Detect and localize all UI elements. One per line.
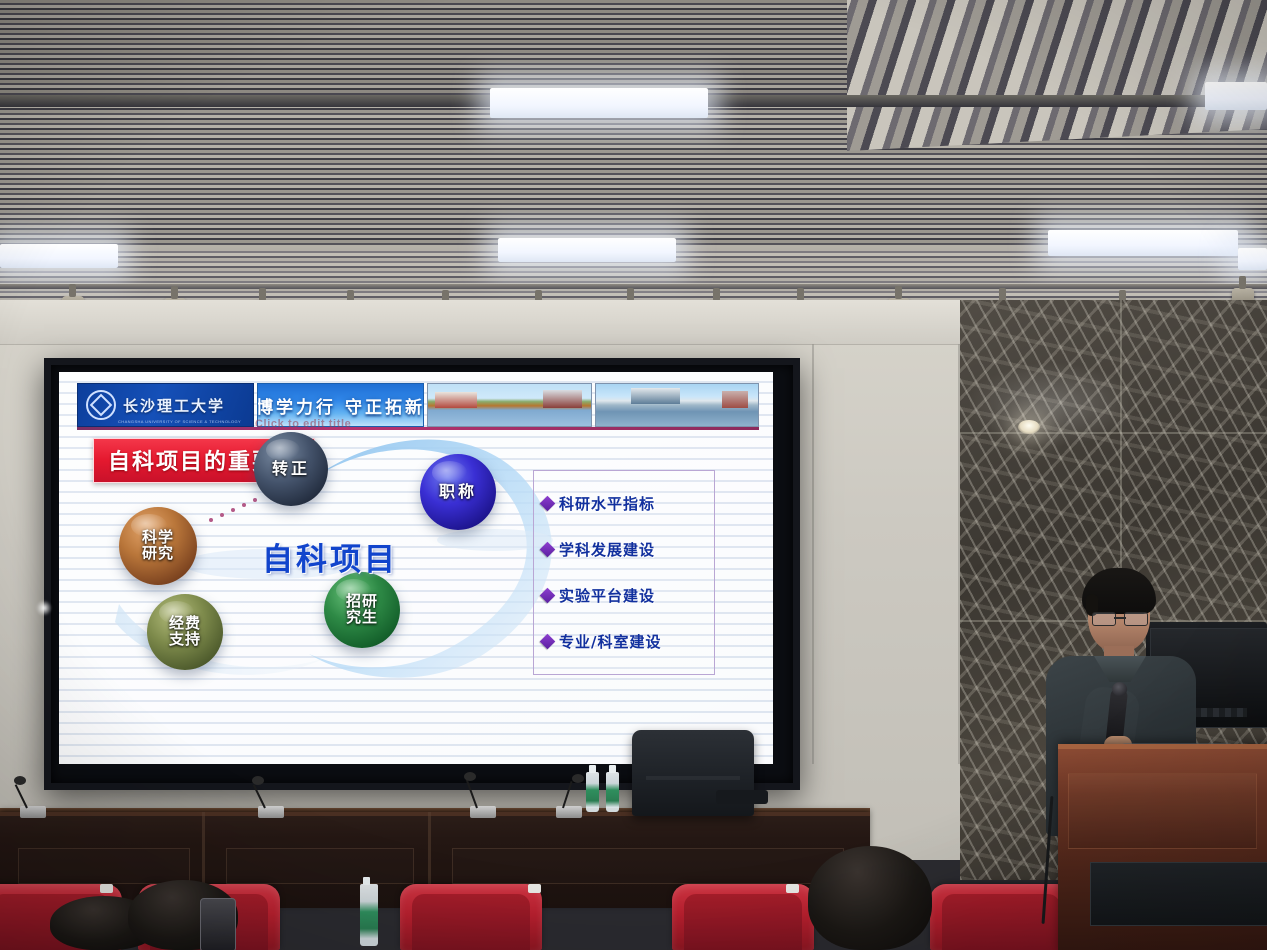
table-microphone-base	[470, 806, 496, 818]
university-name-cn: 长沙理工大学	[123, 395, 225, 416]
bullet-label: 科研水平指标	[559, 493, 655, 514]
head-table-panel	[452, 848, 844, 884]
conference-room-photo: 长沙理工大学 CHANGSHA UNIVERSITY OF SCIENCE & …	[0, 0, 1267, 950]
lectern-front-panel	[1068, 773, 1257, 849]
ceiling-panel-light	[1238, 248, 1267, 270]
ceiling-panel-light	[1205, 82, 1267, 110]
placeholder-text: Click to edit title	[255, 418, 351, 430]
bullet-label: 学科发展建设	[559, 539, 655, 560]
table-microphone-base	[258, 806, 284, 818]
water-bottle	[360, 884, 378, 946]
screen-edge-glint	[36, 600, 52, 616]
university-motto: 博学力行 守正拓新	[257, 393, 424, 418]
bullet-item: 专业/科室建设	[542, 631, 706, 652]
phone-held-up	[200, 898, 236, 950]
ceiling	[0, 0, 1267, 300]
av-control-panel[interactable]	[1090, 862, 1267, 926]
diamond-bullet-icon	[540, 542, 556, 558]
recessed-downlight	[1018, 420, 1040, 434]
water-bottle	[586, 772, 599, 812]
sphere-label: 转正	[272, 461, 310, 478]
projection-screen: 长沙理工大学 CHANGSHA UNIVERSITY OF SCIENCE & …	[44, 358, 800, 790]
bullet-label: 实验平台建设	[559, 585, 655, 606]
seat	[672, 884, 814, 950]
sphere-zhao-yanjiusheng: 招研 究生	[324, 572, 400, 648]
bullet-item: 学科发展建设	[542, 539, 706, 560]
microphone-head	[14, 776, 26, 785]
water-bottle	[606, 772, 619, 812]
campus-photo-1	[427, 383, 592, 427]
microphone-head	[252, 776, 264, 785]
diamond-bullet-icon	[540, 588, 556, 604]
bullet-item: 科研水平指标	[542, 493, 706, 514]
marble-seam	[960, 432, 1267, 434]
ceiling-panel-light	[0, 244, 118, 268]
wall-top-trim	[0, 300, 980, 345]
bullet-label: 专业/科室建设	[559, 631, 661, 652]
table-microphone-base	[556, 806, 582, 818]
sphere-zhuanzheng: 转正	[254, 432, 328, 506]
seat	[400, 884, 542, 950]
sphere-zhicheng: 职称	[420, 454, 496, 530]
ceiling-panel-light	[490, 88, 708, 118]
head-table-panel	[18, 848, 190, 884]
sphere-label: 职称	[439, 484, 477, 501]
audience-head	[808, 846, 932, 950]
presenter-hair	[1082, 568, 1156, 614]
ceiling-panel-light	[498, 238, 676, 262]
seat-number-tag	[786, 884, 799, 893]
ceiling-diagonal-baffles	[847, 0, 1267, 151]
seat-cushion	[412, 894, 530, 950]
university-logo-block: 长沙理工大学 CHANGSHA UNIVERSITY OF SCIENCE & …	[77, 383, 254, 427]
sphere-label-line2: 究生	[346, 610, 378, 626]
sphere-jingfei-zhichi: 经费 支持	[147, 594, 223, 670]
table-microphone-base	[20, 806, 46, 818]
microphone-head	[464, 772, 476, 781]
sphere-label-line2: 支持	[169, 632, 201, 648]
seat-number-tag	[528, 884, 541, 893]
seat-number-tag	[100, 884, 113, 893]
wall-seam	[812, 344, 814, 764]
header-underline	[77, 427, 759, 430]
sphere-kexue-yanjiu: 科学 研究	[119, 507, 197, 585]
presentation-slide: 长沙理工大学 CHANGSHA UNIVERSITY OF SCIENCE & …	[59, 372, 773, 764]
campus-photo-2	[595, 383, 760, 427]
dotted-connector	[209, 498, 269, 528]
microphone-head	[572, 774, 584, 783]
bullet-list-box: 科研水平指标 学科发展建设 实验平台建设 专业/科室建设	[533, 470, 715, 675]
sphere-label-line2: 研究	[142, 546, 174, 562]
seat	[930, 884, 1072, 950]
sphere-label: 经费 支持	[169, 616, 201, 647]
seat-cushion	[684, 894, 802, 950]
slide-header-banner: 长沙理工大学 CHANGSHA UNIVERSITY OF SCIENCE & …	[77, 383, 759, 425]
diamond-bullet-icon	[540, 633, 556, 649]
sphere-label: 招研 究生	[346, 594, 378, 625]
head-table-panel	[226, 848, 414, 884]
university-name-en: CHANGSHA UNIVERSITY OF SCIENCE & TECHNOL…	[118, 419, 241, 424]
ceiling-panel-light	[1048, 230, 1238, 256]
glasses-icon	[1092, 612, 1148, 625]
slide-center-label: 自科项目	[262, 534, 398, 579]
chair-armrest	[716, 790, 768, 804]
bullet-item: 实验平台建设	[542, 585, 706, 606]
sphere-label: 科学 研究	[142, 530, 174, 561]
diamond-bullet-icon	[540, 496, 556, 512]
university-emblem-icon	[86, 390, 116, 420]
